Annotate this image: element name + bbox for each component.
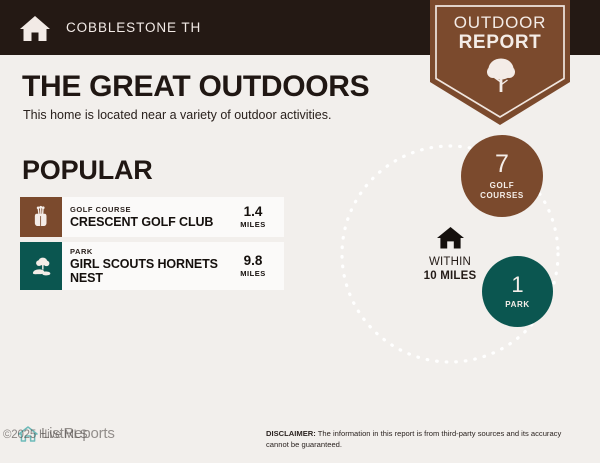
- park-tree-icon: [20, 242, 62, 290]
- list-item-category: PARK: [70, 247, 225, 256]
- center-label-line1: WITHIN: [403, 255, 497, 269]
- list-item-distance: 1.4 MILES: [229, 197, 284, 237]
- list-item-text: PARK GIRL SCOUTS HORNETS NEST: [62, 242, 229, 290]
- outdoor-report-badge: OUTDOOR REPORT: [430, 0, 570, 125]
- list-item-text: GOLF COURSE CRESCENT GOLF CLUB: [62, 197, 229, 237]
- property-name: COBBLESTONE TH: [66, 20, 201, 35]
- distance-unit: MILES: [240, 220, 265, 229]
- popular-list: GOLF COURSE CRESCENT GOLF CLUB 1.4 MILES…: [20, 197, 284, 295]
- page-subtitle: This home is located near a variety of o…: [23, 108, 331, 122]
- count-bubble-golf-courses[interactable]: 7 GOLF COURSES: [461, 135, 543, 217]
- list-item[interactable]: GOLF COURSE CRESCENT GOLF CLUB 1.4 MILES: [20, 197, 284, 237]
- list-item-distance: 9.8 MILES: [229, 242, 284, 290]
- count-bubble-parks[interactable]: 1 PARK: [482, 256, 553, 327]
- bubble-count: 7: [495, 152, 509, 177]
- center-marker: WITHIN 10 MILES: [403, 225, 497, 283]
- disclaimer-label: DISCLAIMER:: [266, 429, 316, 438]
- disclaimer: DISCLAIMER: The information in this repo…: [266, 428, 582, 450]
- mls-watermark: ©2025 Hive MLS: [3, 429, 87, 441]
- bubble-label: PARK: [505, 300, 529, 309]
- list-item-category: GOLF COURSE: [70, 205, 225, 214]
- home-icon: [18, 13, 52, 43]
- bubble-label-line2: COURSES: [480, 191, 524, 200]
- radial-diagram: WITHIN 10 MILES 7 GOLF COURSES 1 PARK: [330, 130, 600, 380]
- page-title: THE GREAT OUTDOORS: [22, 70, 369, 104]
- distance-value: 9.8: [244, 254, 263, 268]
- popular-heading: POPULAR: [22, 155, 153, 186]
- list-item-name: GIRL SCOUTS HORNETS NEST: [70, 257, 225, 285]
- bubble-label-line1: GOLF: [490, 181, 515, 190]
- distance-unit: MILES: [240, 269, 265, 278]
- bubble-label: GOLF COURSES: [480, 181, 524, 200]
- bubble-count: 1: [511, 274, 523, 296]
- distance-value: 1.4: [244, 205, 263, 219]
- home-icon: [436, 225, 465, 250]
- list-item[interactable]: PARK GIRL SCOUTS HORNETS NEST 9.8 MILES: [20, 242, 284, 290]
- list-item-name: CRESCENT GOLF CLUB: [70, 215, 225, 229]
- golf-bag-icon: [20, 197, 62, 237]
